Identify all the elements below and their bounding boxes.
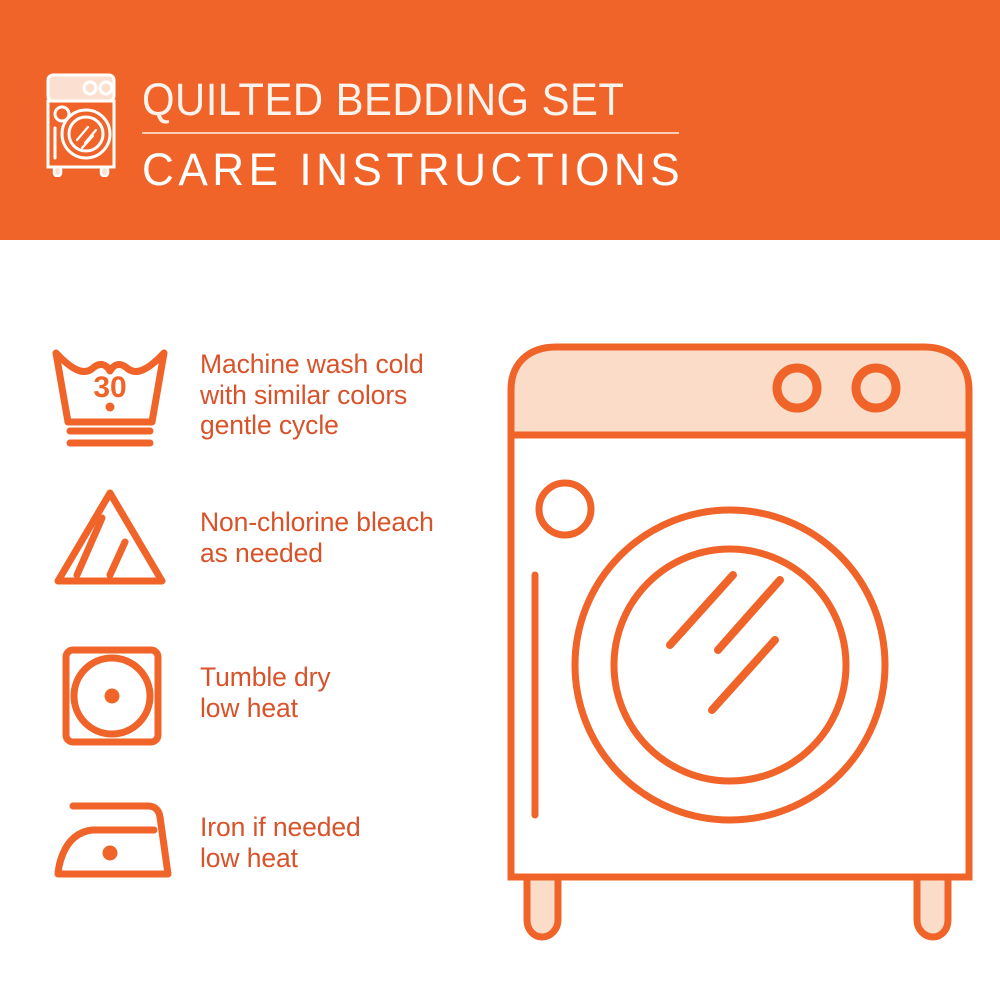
iron-low-heat-icon (44, 790, 176, 902)
header-text-block: QUILTED BEDDING SET CARE INSTRUCTIONS (142, 74, 702, 196)
header-banner: QUILTED BEDDING SET CARE INSTRUCTIONS (0, 0, 1000, 240)
title-divider (142, 132, 679, 134)
care-instruction-list: 30 Machine wash cold with similar colors… (0, 240, 500, 1000)
care-instructions-page: QUILTED BEDDING SET CARE INSTRUCTIONS 30… (0, 0, 1000, 1000)
foot-right (917, 877, 948, 937)
wash-tub-30-gentle-icon: 30 (44, 340, 176, 452)
care-text-tumble-dry: Tumble dry low heat (200, 662, 331, 723)
page-subtitle: CARE INSTRUCTIONS (142, 144, 691, 196)
door-outer-ring (575, 510, 885, 820)
care-text-bleach: Non-chlorine bleach as needed (200, 507, 434, 568)
foot-left (527, 877, 558, 937)
non-chlorine-bleach-triangle-icon (44, 485, 176, 597)
machine-body (511, 435, 969, 877)
detergent-drawer-circle (539, 483, 591, 535)
page-title: QUILTED BEDDING SET (142, 74, 663, 126)
tumble-dry-low-heat-icon (44, 640, 176, 752)
wash-temperature-label: 30 (93, 371, 126, 404)
washing-machine-illustration (480, 320, 1000, 960)
door-streak-1 (670, 575, 733, 645)
care-text-iron: Iron if needed low heat (200, 812, 361, 873)
care-text-wash: Machine wash cold with similar colors ge… (200, 349, 424, 441)
washing-machine-icon (44, 72, 122, 177)
